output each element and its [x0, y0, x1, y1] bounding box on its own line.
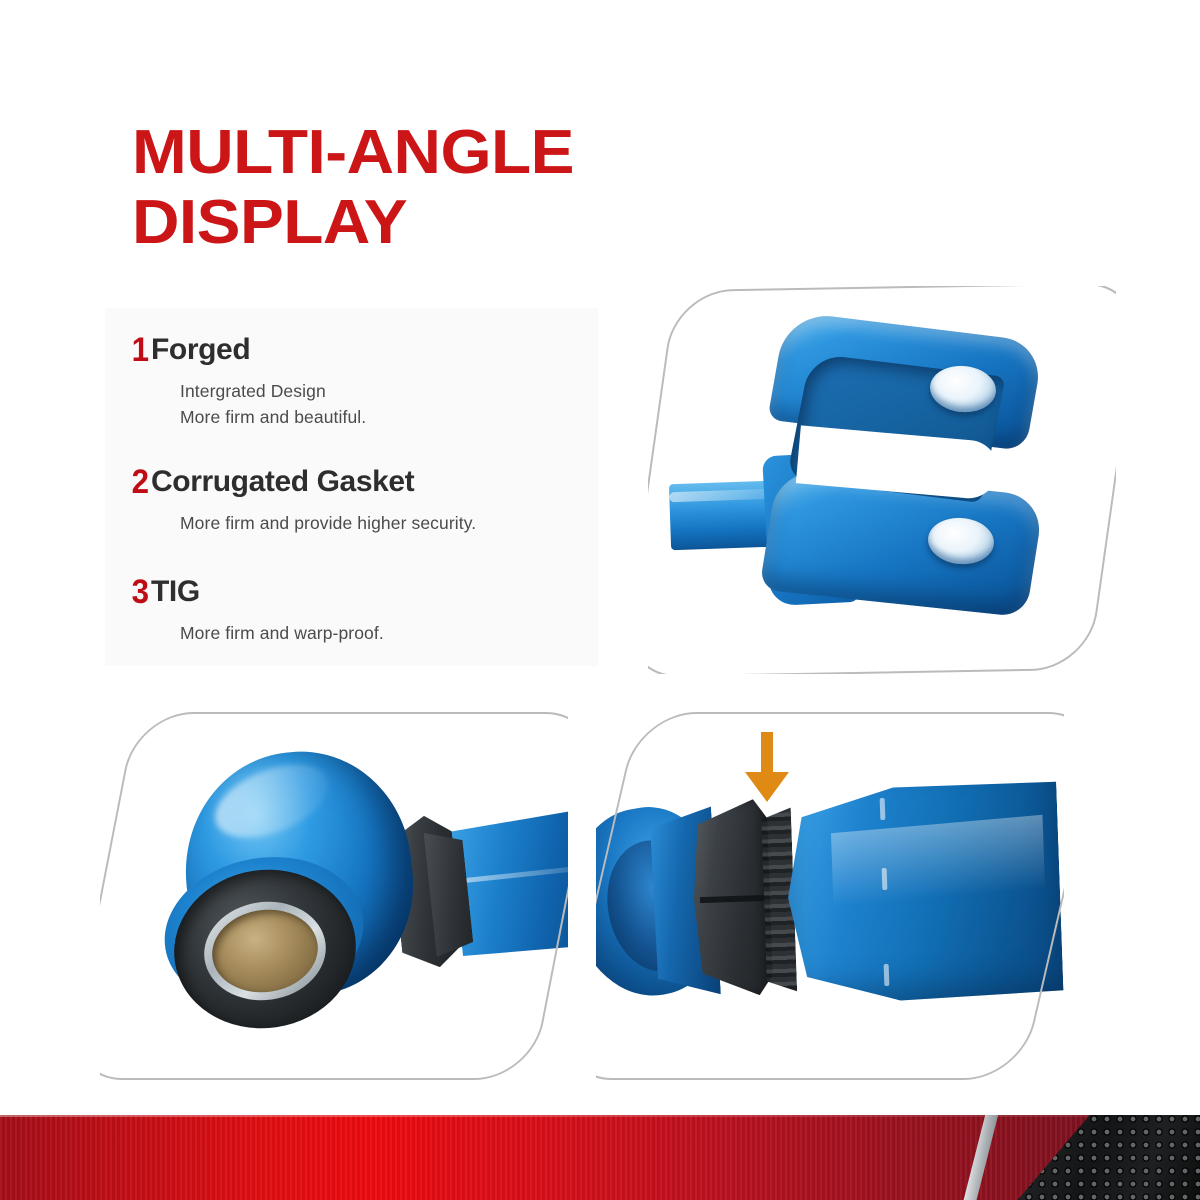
feature-description-line: More firm and beautiful. — [180, 404, 598, 430]
feature-title: Corrugated Gasket — [151, 464, 414, 500]
banner-red-gradient — [0, 1115, 1200, 1200]
feature-title: Forged — [151, 332, 250, 368]
feature-number: 3 — [105, 574, 147, 610]
gasket-illustration — [596, 712, 1064, 1080]
feature-list-panel: 1 Forged Intergrated Design More firm an… — [105, 308, 598, 666]
feature-description: More firm and warp-proof. — [180, 620, 598, 646]
clevis-illustration — [648, 286, 1116, 674]
gasket-body-mark — [884, 964, 890, 986]
product-photo-gasket — [596, 712, 1064, 1080]
feature-number: 2 — [105, 464, 147, 500]
feature-number: 1 — [105, 332, 147, 368]
feature-description-line: Intergrated Design — [180, 378, 598, 404]
feature-description: More firm and provide higher security. — [180, 510, 598, 536]
title-line-1: MULTI-ANGLE — [132, 118, 789, 188]
product-photo-bushing — [100, 712, 568, 1080]
page-title: MULTI-ANGLE DISPLAY — [132, 118, 752, 258]
bushing-illustration — [100, 712, 568, 1080]
feature-heading-row: 1 Forged — [105, 332, 598, 372]
title-line-2: DISPLAY — [132, 188, 789, 258]
feature-description-line: More firm and provide higher security. — [180, 510, 598, 536]
bottom-banner — [0, 1115, 1200, 1200]
feature-item-corrugated-gasket: 2 Corrugated Gasket More firm and provid… — [105, 464, 598, 536]
feature-item-forged: 1 Forged Intergrated Design More firm an… — [105, 332, 598, 430]
feature-description-line: More firm and warp-proof. — [180, 620, 598, 646]
feature-heading-row: 2 Corrugated Gasket — [105, 464, 598, 504]
down-arrow-icon — [738, 732, 796, 804]
gasket-body-mark — [880, 798, 886, 820]
product-photo-clevis — [648, 286, 1116, 674]
banner-top-highlight — [0, 1115, 1200, 1117]
feature-description: Intergrated Design More firm and beautif… — [180, 378, 598, 430]
gasket-body-mark — [882, 868, 888, 890]
feature-heading-row: 3 TIG — [105, 574, 598, 614]
feature-title: TIG — [151, 574, 200, 610]
feature-item-tig: 3 TIG More firm and warp-proof. — [105, 574, 598, 646]
